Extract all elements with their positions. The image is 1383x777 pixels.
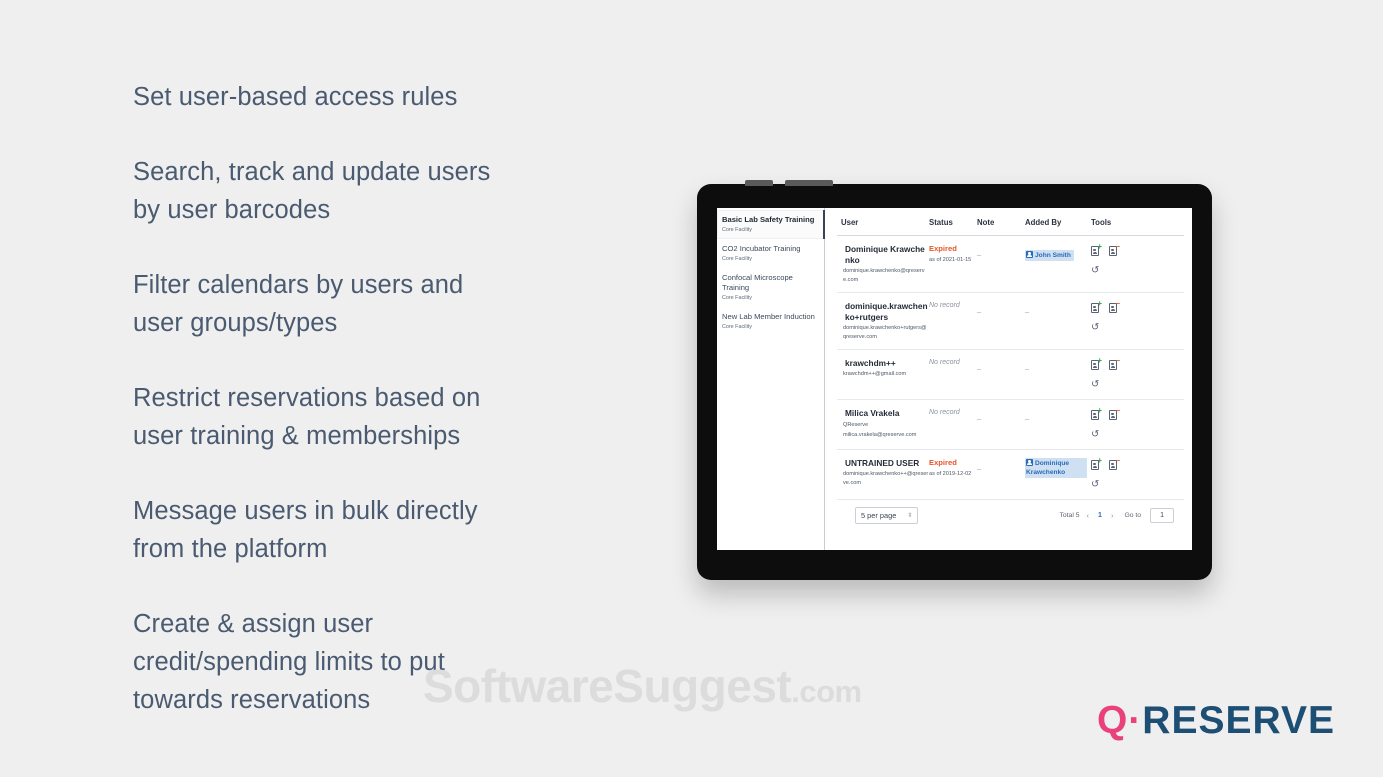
column-header-tools: Tools	[1091, 218, 1139, 227]
sidebar-item-subtitle: Core Facility	[722, 255, 818, 263]
watermark-tld: .com	[791, 674, 861, 709]
cell-added-by: –	[1025, 358, 1091, 391]
training-history-icon[interactable]: ↺	[1091, 322, 1139, 333]
chevron-updown-icon: ⇳	[907, 513, 912, 519]
sidebar-item-new-lab-member-induction[interactable]: New Lab Member Induction Core Facility	[717, 307, 824, 336]
status-badge: No record	[929, 408, 977, 418]
page-number-1[interactable]: 1	[1096, 512, 1104, 519]
cell-note: –	[977, 458, 1025, 491]
table-row[interactable]: Milica Vrakela QReserve milica.vrakela@q…	[837, 400, 1184, 450]
user-email: krawchdm++@gmail.com	[841, 370, 929, 379]
tablet-speaker-nub	[745, 180, 773, 186]
added-by-badge[interactable]: John Smith	[1025, 250, 1074, 261]
training-history-icon[interactable]: ↺	[1091, 479, 1139, 490]
pagination-bar: 5 per page ⇳ Total 5 ‹ 1 › Go to 1	[837, 500, 1184, 530]
cell-tools: + − ↺	[1091, 408, 1139, 441]
logo-word: RESERVE	[1142, 699, 1335, 742]
cell-user: dominique.krawchenko+rutgers dominique.k…	[841, 301, 929, 341]
tablet-screen: Basic Lab Safety Training Core Facility …	[717, 208, 1192, 550]
per-page-value: 5 per page	[861, 511, 896, 520]
training-users-panel: User Status Note Added By Tools Dominiqu…	[825, 208, 1192, 550]
sidebar-item-title: New Lab Member Induction	[722, 312, 818, 322]
sidebar-item-basic-lab-safety-training[interactable]: Basic Lab Safety Training Core Facility	[717, 210, 824, 239]
cell-user: krawchdm++ krawchdm++@gmail.com	[841, 358, 929, 391]
sidebar-item-subtitle: Core Facility	[722, 294, 818, 302]
training-history-icon[interactable]: ↺	[1091, 379, 1139, 390]
feature-bullet-list: Set user-based access rules Search, trac…	[133, 78, 693, 719]
tablet-camera-nub	[785, 180, 833, 186]
person-icon	[1026, 459, 1033, 466]
sidebar-item-title: CO2 Incubator Training	[722, 244, 818, 254]
added-by-value: –	[1025, 364, 1029, 373]
status-badge: No record	[929, 301, 977, 311]
status-badge: Expired	[929, 244, 977, 254]
cell-user: UNTRAINED USER dominique.krawchenko++@qr…	[841, 458, 929, 491]
user-name: Dominique Krawchenko	[841, 244, 929, 266]
remove-training-record-icon[interactable]: −	[1109, 245, 1118, 256]
add-training-record-icon[interactable]: +	[1091, 409, 1100, 420]
sidebar-item-title: Confocal Microscope Training	[722, 273, 818, 293]
cell-tools: + − ↺	[1091, 244, 1139, 284]
tablet-device-frame: Basic Lab Safety Training Core Facility …	[697, 184, 1212, 580]
user-email: dominique.krawchenko+rutgers@qreserve.co…	[841, 324, 929, 341]
sidebar-item-title: Basic Lab Safety Training	[722, 215, 818, 225]
bullet-item: Set user-based access rules	[133, 78, 693, 116]
bullet-item: Search, track and update users by user b…	[133, 153, 693, 229]
remove-training-record-icon[interactable]: −	[1109, 409, 1118, 420]
added-by-value: –	[1025, 307, 1029, 316]
prev-page-icon[interactable]: ‹	[1086, 511, 1091, 520]
note-value: –	[977, 250, 981, 259]
cell-status: No record	[929, 358, 977, 391]
next-page-icon[interactable]: ›	[1110, 511, 1115, 520]
logo-q: Q	[1097, 699, 1128, 742]
add-training-record-icon[interactable]: +	[1091, 459, 1100, 470]
user-name: dominique.krawchenko+rutgers	[841, 301, 929, 323]
watermark-name: SoftwareSuggest	[423, 660, 791, 712]
cell-added-by: Dominique Krawchenko	[1025, 458, 1091, 491]
person-icon	[1026, 251, 1033, 258]
cell-note: –	[977, 408, 1025, 441]
status-subtext: as of 2021-01-15	[929, 256, 977, 264]
slide-canvas: Set user-based access rules Search, trac…	[0, 0, 1383, 777]
note-value: –	[977, 414, 981, 423]
bullet-item: Restrict reservations based on user trai…	[133, 379, 693, 455]
cell-tools: + − ↺	[1091, 301, 1139, 341]
note-value: –	[977, 307, 981, 316]
remove-training-record-icon[interactable]: −	[1109, 359, 1118, 370]
user-name: Milica Vrakela	[841, 408, 929, 419]
remove-training-record-icon[interactable]: −	[1109, 302, 1118, 313]
sidebar-item-co2-incubator-training[interactable]: CO2 Incubator Training Core Facility	[717, 239, 824, 268]
cell-status: Expired as of 2021-01-15	[929, 244, 977, 284]
note-value: –	[977, 464, 981, 473]
add-training-record-icon[interactable]: +	[1091, 359, 1100, 370]
added-by-value: –	[1025, 414, 1029, 423]
sidebar-item-subtitle: Core Facility	[722, 226, 818, 234]
goto-page-input[interactable]: 1	[1150, 508, 1174, 523]
remove-training-record-icon[interactable]: −	[1109, 459, 1118, 470]
per-page-select[interactable]: 5 per page ⇳	[855, 507, 918, 524]
column-header-added-by: Added By	[1025, 218, 1091, 227]
column-header-status: Status	[929, 218, 977, 227]
cell-tools: + − ↺	[1091, 458, 1139, 491]
sidebar-item-subtitle: Core Facility	[722, 323, 818, 331]
cell-note: –	[977, 244, 1025, 284]
qreserve-training-app: Basic Lab Safety Training Core Facility …	[717, 208, 1192, 550]
cell-status: Expired as of 2019-12-02	[929, 458, 977, 491]
status-subtext: as of 2019-12-02	[929, 470, 977, 478]
goto-label: Go to	[1124, 512, 1141, 519]
cell-added-by: –	[1025, 301, 1091, 341]
cell-tools: + − ↺	[1091, 358, 1139, 391]
cell-added-by: John Smith	[1025, 244, 1091, 284]
user-email: dominique.krawchenko++@qreserve.com	[841, 470, 929, 487]
added-by-badge[interactable]: Dominique Krawchenko	[1025, 458, 1087, 478]
user-email: milica.vrakela@qreserve.com	[841, 431, 929, 440]
training-list-sidebar: Basic Lab Safety Training Core Facility …	[717, 208, 825, 550]
add-training-record-icon[interactable]: +	[1091, 302, 1100, 313]
user-name: UNTRAINED USER	[841, 458, 929, 469]
note-value: –	[977, 364, 981, 373]
bullet-item: Message users in bulk directly from the …	[133, 492, 693, 568]
user-org: QReserve	[841, 421, 929, 430]
qreserve-logo: Q·RESERVE	[1097, 699, 1335, 743]
add-training-record-icon[interactable]: +	[1091, 245, 1100, 256]
cell-note: –	[977, 301, 1025, 341]
added-by-name: John Smith	[1035, 252, 1071, 259]
logo-dot: ·	[1128, 699, 1142, 742]
training-history-icon[interactable]: ↺	[1091, 265, 1139, 276]
cell-user: Dominique Krawchenko dominique.krawchenk…	[841, 244, 929, 284]
column-header-note: Note	[977, 218, 1025, 227]
cell-added-by: –	[1025, 408, 1091, 441]
bullet-item: Filter calendars by users and user group…	[133, 266, 693, 342]
training-history-icon[interactable]: ↺	[1091, 429, 1139, 440]
table-row[interactable]: UNTRAINED USER dominique.krawchenko++@qr…	[837, 450, 1184, 500]
status-badge: No record	[929, 358, 977, 368]
column-header-user: User	[841, 218, 929, 227]
cell-user: Milica Vrakela QReserve milica.vrakela@q…	[841, 408, 929, 441]
cell-status: No record	[929, 408, 977, 441]
sidebar-item-confocal-microscope-training[interactable]: Confocal Microscope Training Core Facili…	[717, 268, 824, 307]
table-row[interactable]: Dominique Krawchenko dominique.krawchenk…	[837, 236, 1184, 293]
user-name: krawchdm++	[841, 358, 929, 369]
cell-note: –	[977, 358, 1025, 391]
total-count-label: Total 5	[1059, 512, 1079, 519]
status-badge: Expired	[929, 458, 977, 468]
cell-status: No record	[929, 301, 977, 341]
users-table-header: User Status Note Added By Tools	[837, 208, 1184, 236]
user-email: dominique.krawchenko@qreserve.com	[841, 267, 929, 284]
table-row[interactable]: dominique.krawchenko+rutgers dominique.k…	[837, 293, 1184, 350]
softwaresuggest-watermark: SoftwareSuggest.com	[423, 659, 862, 713]
table-row[interactable]: krawchdm++ krawchdm++@gmail.com No recor…	[837, 350, 1184, 400]
